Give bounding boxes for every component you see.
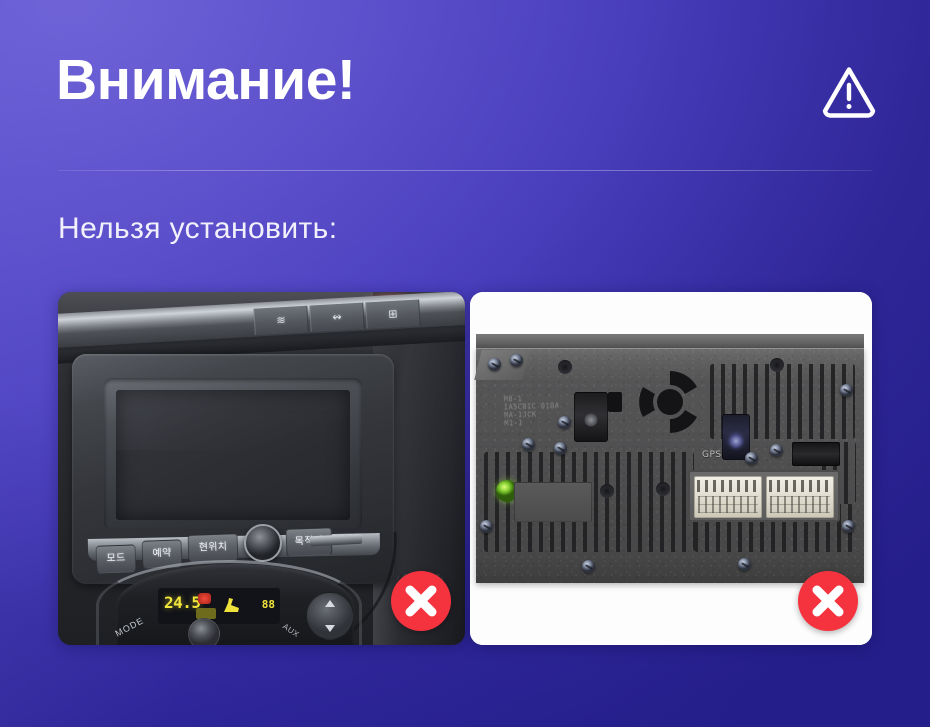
climate-fan-level: 88: [262, 598, 275, 611]
section-subtitle: Нельзя установить:: [58, 212, 337, 246]
airflow-seat-icon: [220, 595, 242, 615]
chassis-plate: [514, 482, 592, 522]
climate-heat-indicator: [198, 593, 211, 604]
screw: [745, 452, 758, 465]
gps-jack-pin: [729, 434, 743, 448]
temp-up-arrow-icon: [325, 600, 335, 607]
connector-teeth: [769, 480, 831, 492]
screw: [840, 384, 853, 397]
small-black-port: [608, 392, 622, 412]
warning-triangle-icon: [820, 64, 878, 120]
fan-cutout-icon: [630, 366, 710, 438]
screw: [554, 442, 567, 455]
antenna-jack: [574, 392, 608, 442]
black-rectangular-port: [792, 442, 840, 466]
warning-slide: Внимание! Нельзя установить: ≋ ↭ ⊞: [0, 0, 930, 727]
screw: [480, 520, 493, 533]
mounting-hole: [600, 484, 614, 498]
defog-front-button: ⊞: [365, 300, 420, 329]
harness-connector-b: [766, 476, 834, 518]
screw: [522, 438, 535, 451]
mounting-hole: [656, 482, 670, 496]
gps-label: GPS: [702, 450, 722, 460]
screw: [842, 520, 855, 533]
defog-rear-button: ≋: [253, 306, 308, 335]
connector-pins: [770, 496, 830, 513]
mounting-hole: [770, 358, 784, 372]
screw: [770, 444, 783, 457]
header-divider: [58, 170, 872, 171]
screw: [738, 558, 751, 571]
mounting-bracket: [474, 350, 529, 380]
page-title: Внимание!: [56, 52, 355, 109]
card-head-unit-rear-photo: M8-1 IA5C01C 010A MA-1JCK M1-1 GPS: [470, 292, 872, 645]
wire-harness-block: [688, 470, 840, 522]
connector-teeth: [697, 480, 759, 492]
card-car-dashboard-photo: ≋ ↭ ⊞ 모드 예약 현위치 목적지 24.5 °C: [58, 292, 465, 645]
fan-speed-knob: [188, 618, 220, 645]
climate-lcd-display: 24.5 °C 88: [158, 588, 280, 624]
recirculate-button: ↭: [309, 303, 364, 332]
temp-down-arrow-icon: [325, 625, 335, 632]
temperature-rocker: [306, 592, 354, 640]
harness-connector-a: [694, 476, 762, 518]
embossed-model-text: M8-1 IA5C01C 010A MA-1JCK M1-1: [504, 393, 560, 426]
screw: [558, 416, 571, 429]
mounting-hole: [558, 360, 572, 374]
screw: [582, 560, 595, 573]
forbidden-x-icon-left: [391, 571, 451, 631]
forbidden-x-icon-right: [798, 571, 858, 631]
antenna-jack-pin: [585, 413, 598, 426]
head-unit-screen: [116, 390, 350, 520]
head-unit-inner-frame: [104, 378, 362, 530]
connector-pins: [698, 496, 758, 513]
screw: [510, 354, 523, 367]
screw: [488, 358, 501, 371]
